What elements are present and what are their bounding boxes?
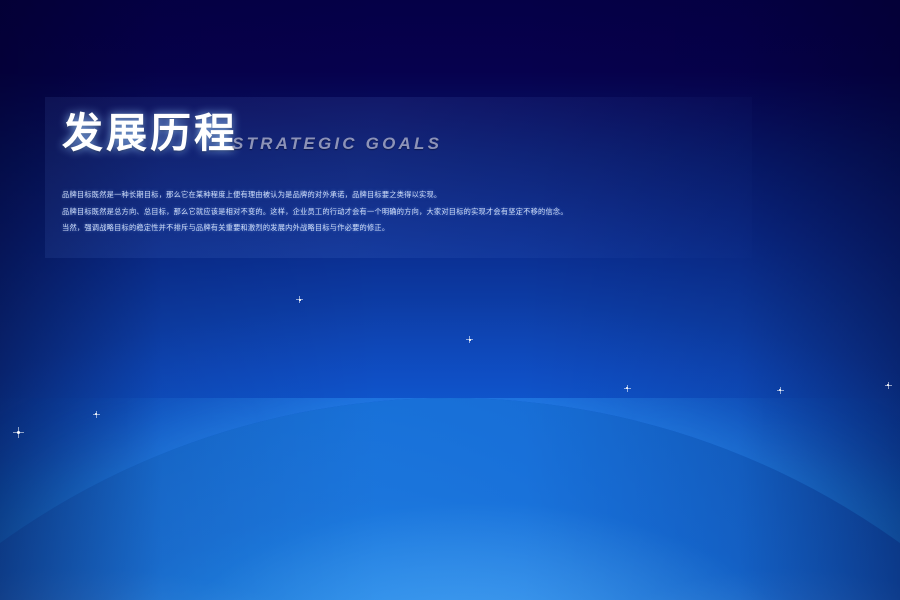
star-icon — [299, 299, 301, 301]
star-icon — [17, 431, 20, 434]
background-vignette — [0, 0, 900, 600]
earth-atmosphere-glow — [0, 398, 900, 600]
star-icon — [887, 384, 889, 386]
headline-group: 发展历程STRATEGIC GOALS — [62, 110, 762, 166]
earth-illustration — [0, 398, 900, 600]
description-line: 品牌目标既然是总方向、总目标，那么它就应该是相对不变的。这样，企业员工的行动才会… — [62, 204, 762, 221]
star-icon — [469, 339, 470, 340]
description-block: 品牌目标既然是一种长期目标，那么它在某种程度上便有理由被认为是品牌的对外承诺，品… — [62, 187, 762, 237]
star-icon — [626, 387, 628, 389]
star-icon — [95, 413, 97, 415]
hero-content: 发展历程STRATEGIC GOALS 品牌目标既然是一种长期目标，那么它在某种… — [62, 110, 762, 237]
banner-hero: 发展历程STRATEGIC GOALS 品牌目标既然是一种长期目标，那么它在某种… — [0, 0, 900, 600]
page-subtitle: STRATEGIC GOALS — [232, 134, 442, 154]
description-line: 品牌目标既然是一种长期目标，那么它在某种程度上便有理由被认为是品牌的对外承诺，品… — [62, 187, 762, 204]
earth-globe — [0, 398, 900, 600]
description-line: 当然，强调战略目标的稳定性并不排斥与品牌有关重要和激烈的发展内外战略目标与作必要… — [62, 220, 762, 237]
star-icon — [779, 389, 781, 391]
page-title: 发展历程 — [62, 110, 238, 156]
